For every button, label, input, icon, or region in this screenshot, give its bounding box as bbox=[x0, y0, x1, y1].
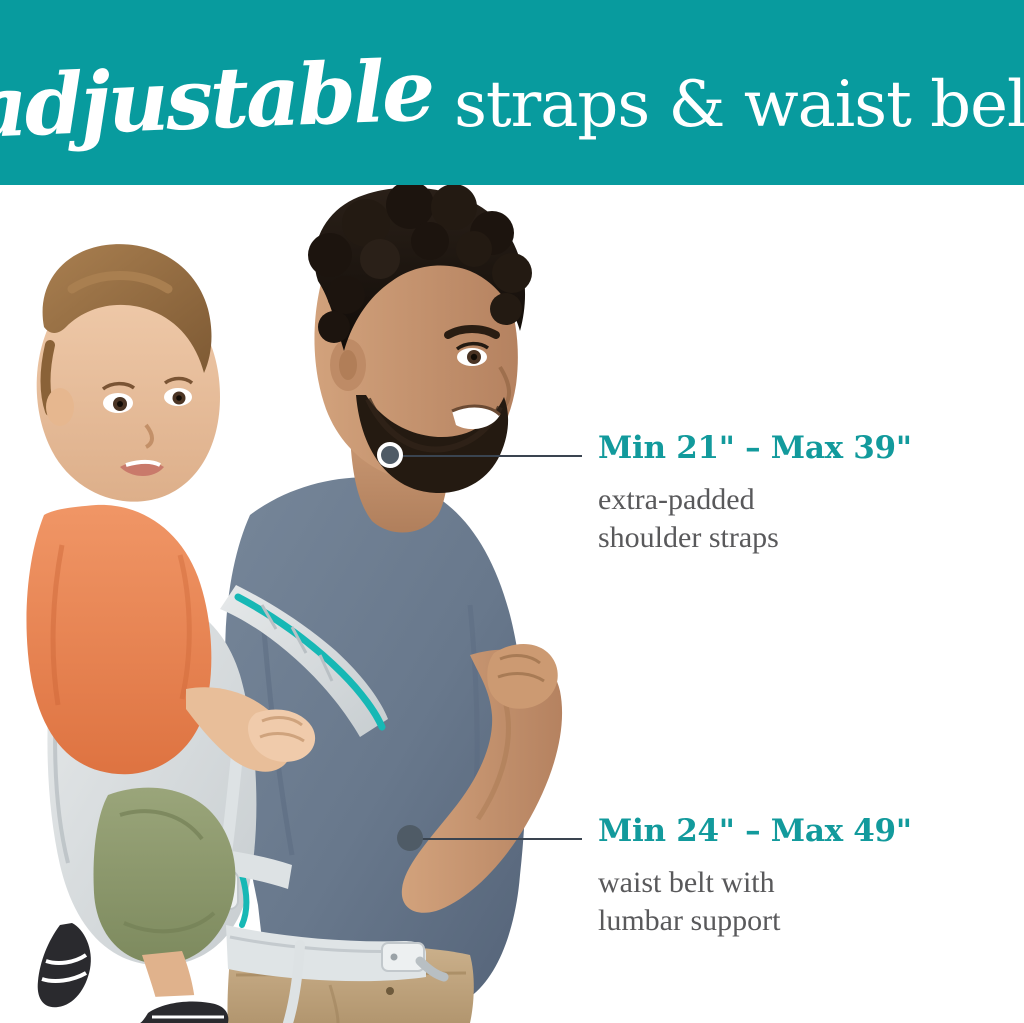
callout-shoulder-straps-line-1: extra-padded bbox=[598, 481, 1024, 519]
waist-belt-buckle bbox=[382, 943, 424, 971]
header-banner: adjustable straps & waist belt bbox=[0, 0, 1024, 185]
callout-shoulder-straps-body: extra-padded shoulder straps bbox=[598, 481, 1024, 558]
banner-text: adjustable straps & waist belt bbox=[0, 47, 1024, 146]
callout-waist-belt-body: waist belt with lumbar support bbox=[598, 864, 1024, 941]
callout-marker-shoulder-straps bbox=[377, 442, 403, 468]
leader-line-shoulder-straps bbox=[396, 455, 582, 457]
callout-marker-waist-belt bbox=[397, 825, 423, 851]
callout-waist-belt-line-2: lumbar support bbox=[598, 902, 1024, 940]
callout-shoulder-straps-line-2: shoulder straps bbox=[598, 519, 1024, 557]
babys-ear bbox=[46, 388, 74, 426]
callout-shoulder-straps-title: Min 21" – Max 39" bbox=[598, 432, 1024, 465]
banner-script-word: adjustable bbox=[0, 40, 440, 157]
callout-shoulder-straps: Min 21" – Max 39" extra-padded shoulder … bbox=[598, 432, 1024, 557]
product-feature-graphic: adjustable straps & waist belt bbox=[0, 0, 1024, 1023]
banner-serif-words: straps & waist belt bbox=[438, 68, 1024, 142]
callout-waist-belt-title: Min 24" – Max 49" bbox=[598, 815, 1024, 848]
callout-waist-belt: Min 24" – Max 49" waist belt with lumbar… bbox=[598, 815, 1024, 940]
callout-waist-belt-line-1: waist belt with bbox=[598, 864, 1024, 902]
leader-line-waist-belt bbox=[416, 838, 582, 840]
